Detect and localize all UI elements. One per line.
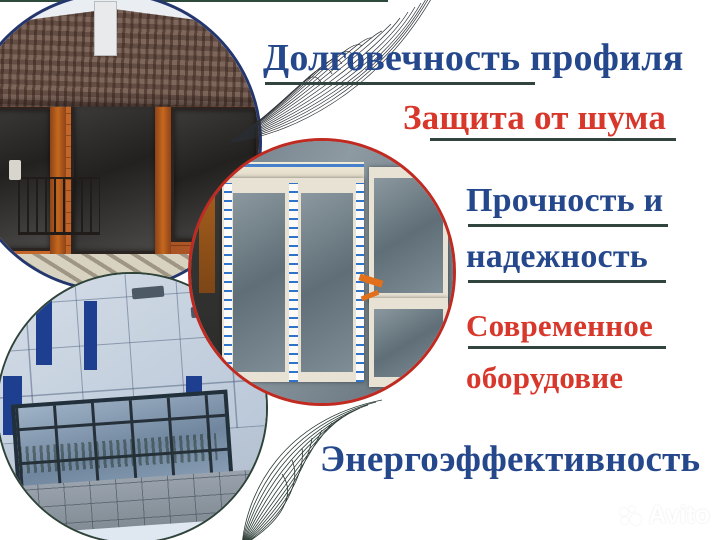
headline-equipment-line-2: оборудовие [466, 360, 623, 396]
blue-panel-1 [36, 279, 52, 365]
headline-durability: Долговечность профиля [263, 36, 684, 80]
headline-strength-line-2-underline [468, 280, 666, 283]
headline-noise-protection-underline [430, 138, 676, 141]
window-glass-third [374, 309, 442, 377]
headline-equipment-line-1: Современное [466, 308, 653, 344]
avito-logo-icon [620, 506, 644, 526]
chimney [94, 1, 117, 56]
headline-strength-line-2: надежность [466, 238, 648, 276]
headline-strength-line-1: Прочность и [466, 182, 663, 220]
headline-strength-line-1-underline [468, 224, 668, 227]
photo-veka-windows [188, 138, 456, 406]
veka-film-strip-right [356, 183, 364, 382]
window-glass-left [233, 193, 285, 371]
headline-equipment-line-1-underline [468, 346, 666, 349]
window-glass-secondary [374, 178, 442, 293]
banner-canvas: Долговечность профиля Защита от шума Про… [0, 0, 720, 540]
headline-noise-protection: Защита от шума [403, 98, 666, 138]
corner-post-right [155, 92, 171, 268]
balcony-railing [18, 177, 100, 235]
avito-wordmark: Avito [648, 503, 710, 528]
wood-beam [199, 141, 215, 293]
veka-film-strip-left [224, 183, 232, 382]
veka-windows-image [191, 141, 453, 403]
avito-watermark: Avito [620, 503, 710, 528]
veka-film-strip-center [289, 183, 298, 382]
window-glass-right [301, 193, 353, 371]
headline-energy-efficiency: Энергоэффективность [320, 438, 700, 481]
headline-durability-underline [265, 82, 535, 85]
wall-lamp [9, 160, 21, 181]
blue-panel-2 [84, 301, 97, 371]
